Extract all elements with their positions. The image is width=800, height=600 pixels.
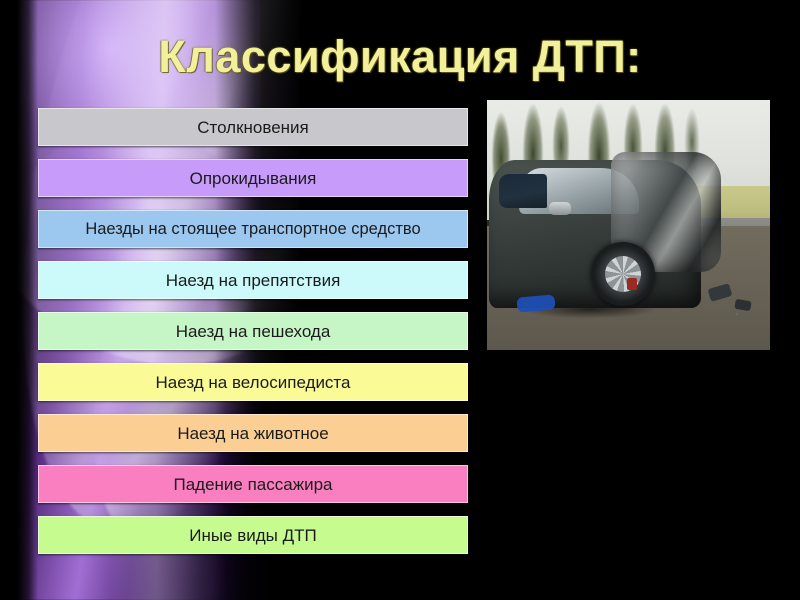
slide-title: Классификация ДТП: xyxy=(0,31,800,83)
photo-brake-caliper xyxy=(627,278,637,290)
list-item: Наезд на пешехода xyxy=(38,312,468,350)
photo-side-mirror xyxy=(549,202,571,215)
list-item-label: Опрокидывания xyxy=(190,170,317,187)
classification-list: Столкновения Опрокидывания Наезды на сто… xyxy=(38,108,468,567)
list-item-label: Наезд на велосипедиста xyxy=(156,374,351,391)
list-item-label: Иные виды ДТП xyxy=(189,527,317,544)
list-item: Наезд на препятствия xyxy=(38,261,468,299)
photo-side-window xyxy=(499,174,547,208)
swoosh-left-fade xyxy=(0,0,38,600)
list-item: Иные виды ДТП xyxy=(38,516,468,554)
presentation-slide: Классификация ДТП: Столкновения Опрокиды… xyxy=(0,0,800,600)
list-item-label: Наезд на препятствия xyxy=(166,272,341,289)
list-item-label: Столкновения xyxy=(197,119,309,136)
list-item: Наезд на животное xyxy=(38,414,468,452)
list-item-label: Наезды на стоящее транспортное средство xyxy=(85,221,420,238)
list-item: Наезд на велосипедиста xyxy=(38,363,468,401)
list-item-label: Наезд на пешехода xyxy=(176,323,331,340)
list-item: Наезды на стоящее транспортное средство xyxy=(38,210,468,248)
crashed-car-photo xyxy=(487,100,770,350)
list-item: Падение пассажира xyxy=(38,465,468,503)
list-item-label: Падение пассажира xyxy=(173,476,332,493)
list-item: Опрокидывания xyxy=(38,159,468,197)
list-item: Столкновения xyxy=(38,108,468,146)
list-item-label: Наезд на животное xyxy=(177,425,328,442)
